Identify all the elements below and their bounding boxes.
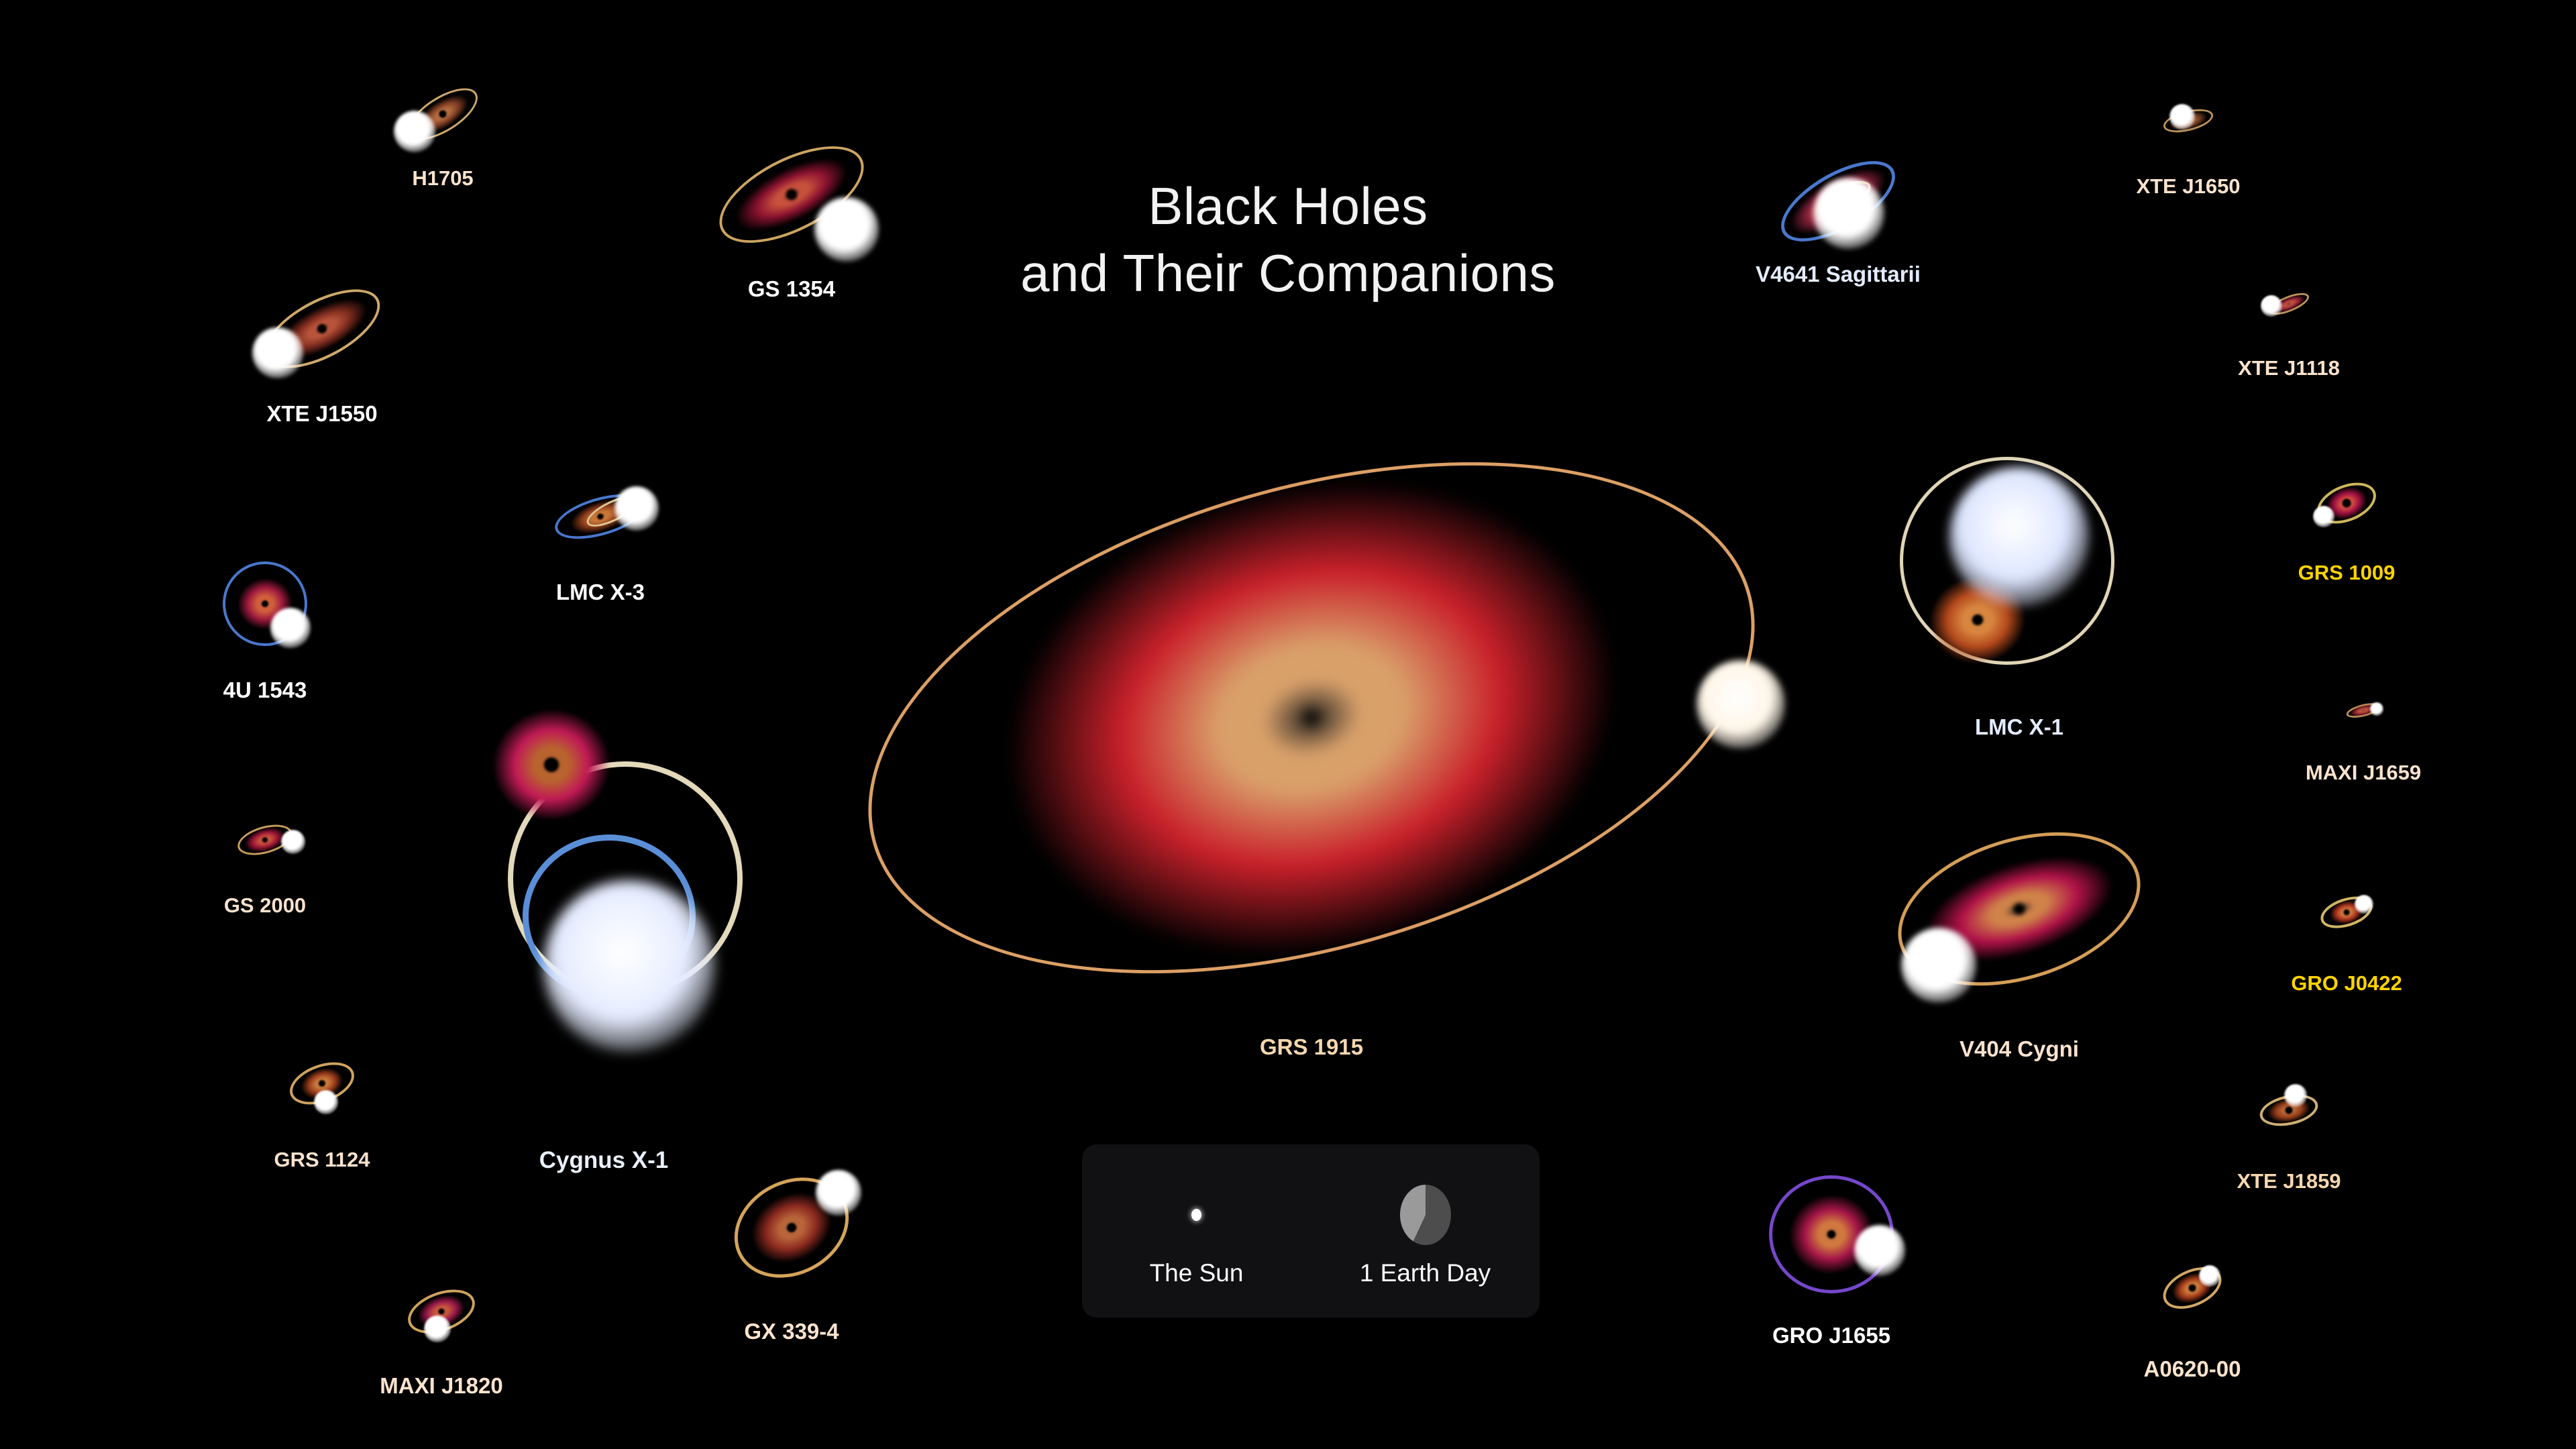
black-hole-a0620-00 <box>2188 1283 2197 1293</box>
companion-star-grs-1009 <box>2313 506 2334 527</box>
system-label-maxi-j1659: MAXI J1659 <box>2306 761 2421 785</box>
black-hole-h1705 <box>437 109 447 119</box>
system-label-v404-cygni: V404 Cygni <box>1960 1036 2079 1062</box>
companion-star-xte-j1118 <box>2261 295 2282 317</box>
companion-star-a0620-00 <box>2199 1265 2220 1287</box>
legend-item-earth-day: 1 Earth Day <box>1311 1144 1540 1318</box>
system-label-lmc-x-1: LMC X-1 <box>1975 714 2063 740</box>
companion-star-lmc-x-3 <box>614 486 659 531</box>
earth-day-pie-icon <box>1400 1175 1451 1255</box>
system-label-gro-j0422: GRO J0422 <box>2291 971 2402 996</box>
legend-label-sun: The Sun <box>1150 1259 1244 1287</box>
system-label-xte-j1118: XTE J1118 <box>2238 356 2340 380</box>
black-hole-4u-1543 <box>261 600 269 608</box>
companion-star-v4641-sagittarii <box>1813 178 1884 249</box>
companion-star-4u-1543 <box>270 608 311 648</box>
system-label-lmc-x-3: LMC X-3 <box>556 580 645 605</box>
system-label-grs-1009: GRS 1009 <box>2298 561 2396 585</box>
black-hole-v404-cygni <box>2012 902 2027 917</box>
companion-star-grs-1124 <box>314 1090 338 1114</box>
companion-star-maxi-j1820 <box>424 1316 451 1342</box>
system-label-grs-1915: GRS 1915 <box>1260 1034 1363 1060</box>
black-hole-grs-1915 <box>1301 707 1322 729</box>
companion-star-lmc-x-1 <box>1949 467 2089 606</box>
system-label-cygnus-x-1: Cygnus X-1 <box>539 1147 669 1174</box>
system-label-gx-339-4: GX 339-4 <box>744 1319 839 1344</box>
sun-dot-icon <box>1191 1175 1201 1255</box>
companion-star-maxi-j1659 <box>2370 702 2383 716</box>
black-hole-cygnus-x-1 <box>543 757 560 773</box>
system-label-maxi-j1820: MAXI J1820 <box>380 1373 502 1399</box>
black-hole-grs-1009 <box>2341 498 2353 509</box>
system-label-v4641-sagittarii: V4641 Sagittarii <box>1756 262 1921 287</box>
system-label-xte-j1859: XTE J1859 <box>2237 1169 2341 1193</box>
companion-star-gro-j0422 <box>2355 895 2373 914</box>
legend-panel: The Sun 1 Earth Day <box>1082 1144 1540 1318</box>
system-label-4u-1543: 4U 1543 <box>223 678 307 703</box>
visualization-canvas: Black Holes and Their Companions H1705GS… <box>0 0 2576 1449</box>
black-hole-gro-j1655 <box>1827 1230 1836 1239</box>
black-hole-gro-j0422 <box>2343 909 2351 916</box>
system-label-xte-j1550: XTE J1550 <box>266 401 377 427</box>
black-hole-lmc-x-1 <box>1972 614 1984 627</box>
system-label-gro-j1655: GRO J1655 <box>1772 1323 1890 1348</box>
legend-label-earth-day: 1 Earth Day <box>1360 1259 1491 1287</box>
companion-star-xte-j1859 <box>2284 1084 2307 1107</box>
companion-star-gs-2000 <box>281 830 305 854</box>
system-label-grs-1124: GRS 1124 <box>274 1148 370 1172</box>
system-label-gs-1354: GS 1354 <box>748 276 835 302</box>
companion-star-grs-1915 <box>1697 660 1785 749</box>
system-label-a0620-00: A0620-00 <box>2144 1356 2241 1382</box>
legend-item-sun: The Sun <box>1082 1144 1311 1318</box>
black-hole-xte-j1550 <box>316 323 329 335</box>
system-label-h1705: H1705 <box>412 166 473 191</box>
black-hole-maxi-j1820 <box>437 1307 445 1315</box>
black-hole-xte-j1859 <box>2285 1106 2294 1115</box>
black-hole-gs-2000 <box>262 837 268 843</box>
companion-star-gs-1354 <box>814 197 879 262</box>
companion-star-gro-j1655 <box>1854 1225 1905 1276</box>
companion-star-gx-339-4 <box>816 1170 861 1216</box>
companion-star-xte-j1650 <box>2169 104 2195 129</box>
companion-star-h1705 <box>394 111 435 152</box>
black-hole-grs-1124 <box>318 1079 327 1088</box>
black-hole-gs-1354 <box>784 187 800 203</box>
companion-star-cygnus-x-1 <box>543 880 715 1052</box>
system-label-xte-j1650: XTE J1650 <box>2136 174 2240 199</box>
system-label-gs-2000: GS 2000 <box>224 894 306 918</box>
black-hole-gx-339-4 <box>786 1222 798 1234</box>
companion-star-v404-cygni <box>1901 928 1976 1003</box>
companion-star-xte-j1550 <box>252 327 303 378</box>
